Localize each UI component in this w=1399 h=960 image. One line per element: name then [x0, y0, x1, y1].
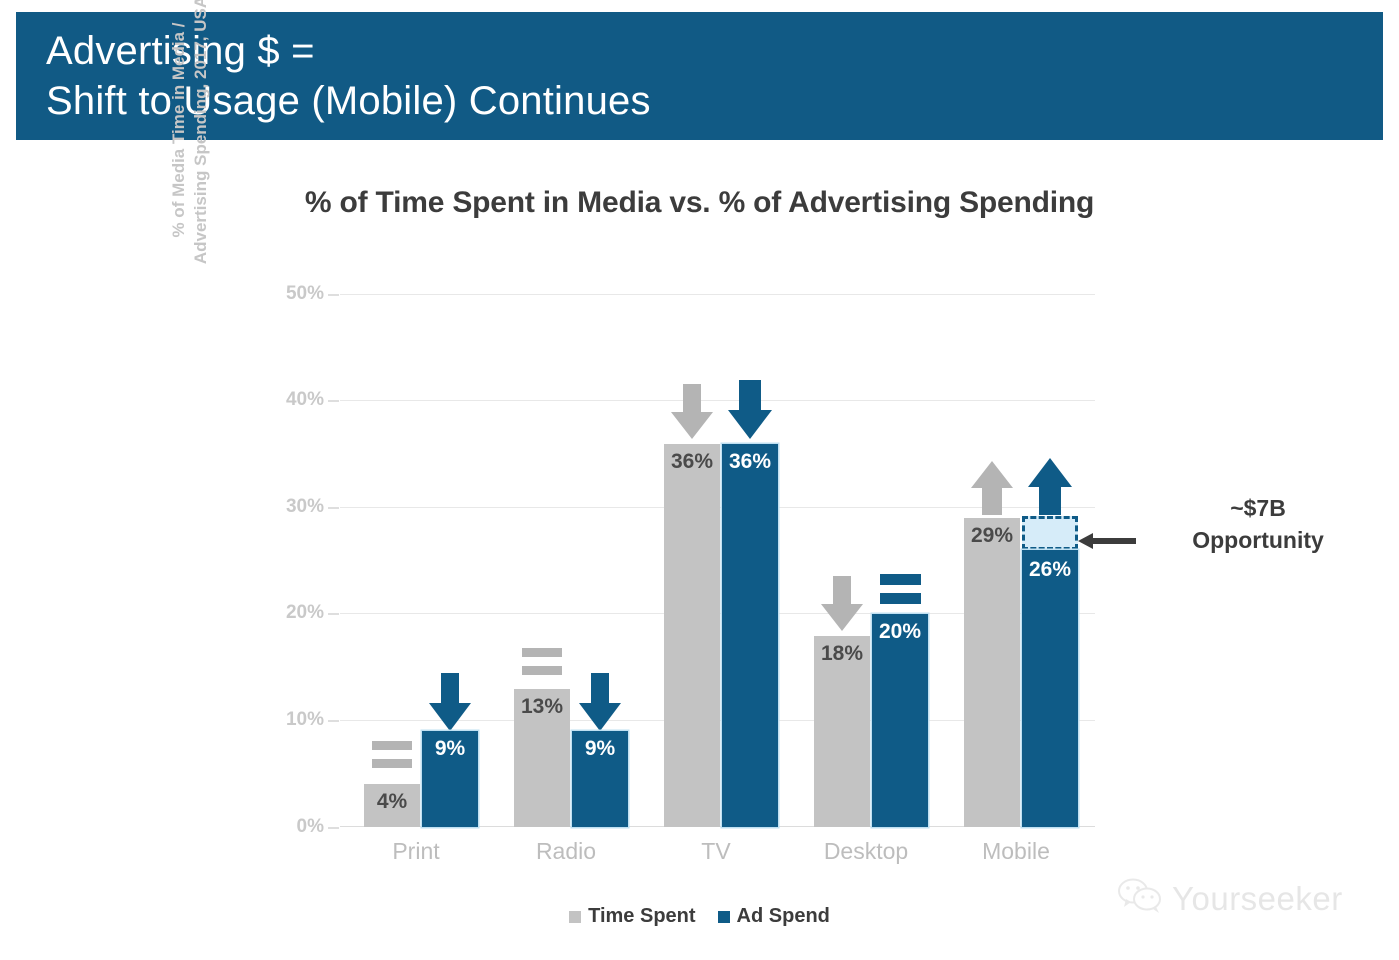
- opportunity-annotation: ~$7B Opportunity: [1138, 492, 1378, 556]
- bar-value-ad-spend-radio: 9%: [572, 737, 628, 761]
- bar-time-spent-print[interactable]: 4%: [364, 784, 420, 827]
- bar-group-desktop: 18% 20%: [796, 294, 946, 827]
- marker-arrow-down-icon: [726, 380, 774, 442]
- y-axis-title: % of Media Time in Media / Advertising S…: [168, 0, 212, 340]
- marker-arrow-up-icon: [1026, 458, 1074, 516]
- legend-label-ad-spend: Ad Spend: [737, 905, 830, 928]
- bar-ad-spend-radio[interactable]: 9%: [572, 731, 628, 827]
- y-tick-label-20: 20%: [224, 602, 324, 624]
- bar-group-tv: 36% 36%: [646, 294, 796, 827]
- bar-value-ad-spend-desktop: 20%: [872, 620, 928, 644]
- marker-arrow-down-icon: [576, 673, 624, 735]
- bar-value-time-spent-desktop: 18%: [814, 642, 870, 666]
- y-tick-dash-0: [328, 827, 339, 829]
- bar-ad-spend-print[interactable]: 9%: [422, 731, 478, 827]
- x-axis-label-mobile: Mobile: [936, 838, 1096, 865]
- bar-group-mobile: 29% 26%: [946, 294, 1096, 827]
- marker-equals-icon: [876, 572, 924, 612]
- bar-time-spent-mobile[interactable]: 29%: [964, 518, 1020, 827]
- bar-group-print: 4% 9%: [346, 294, 496, 827]
- bar-ad-spend-desktop[interactable]: 20%: [872, 614, 928, 827]
- marker-equals-icon: [368, 737, 416, 777]
- opportunity-label: Opportunity: [1138, 524, 1378, 556]
- y-tick-label-30: 30%: [224, 496, 324, 518]
- plot-area: 4% 9% 13% 9%: [340, 294, 1095, 827]
- legend-swatch-icon: [569, 911, 581, 923]
- bar-value-ad-spend-mobile: 26%: [1022, 558, 1078, 582]
- opportunity-amount: ~$7B: [1138, 492, 1378, 524]
- y-tick-label-10: 10%: [224, 709, 324, 731]
- bar-ad-spend-mobile[interactable]: 26%: [1022, 550, 1078, 827]
- y-tick-label-0: 0%: [224, 816, 324, 838]
- bar-value-ad-spend-tv: 36%: [722, 450, 778, 474]
- y-axis-title-line1: % of Media Time in Media /: [168, 0, 190, 340]
- y-tick-label-40: 40%: [224, 389, 324, 411]
- y-axis-title-line2: Advertising Spending, 2017, USA: [190, 0, 212, 340]
- legend-item-ad-spend[interactable]: Ad Spend: [718, 905, 830, 928]
- legend-item-time-spent[interactable]: Time Spent: [569, 905, 695, 928]
- legend-swatch-icon: [718, 911, 730, 923]
- y-tick-dash-30: [328, 507, 339, 509]
- bar-time-spent-tv[interactable]: 36%: [664, 444, 720, 827]
- bar-time-spent-radio[interactable]: 13%: [514, 689, 570, 827]
- x-axis-label-radio: Radio: [486, 838, 646, 865]
- bar-value-time-spent-print: 4%: [364, 790, 420, 814]
- x-axis-label-tv: TV: [636, 838, 796, 865]
- y-tick-dash-20: [328, 613, 339, 615]
- opportunity-arrow-icon: [1078, 532, 1136, 550]
- marker-arrow-up-icon: [968, 461, 1016, 516]
- y-tick-label-50: 50%: [224, 283, 324, 305]
- y-tick-dash-10: [328, 720, 339, 722]
- bar-ad-spend-tv[interactable]: 36%: [722, 444, 778, 827]
- marker-equals-icon: [518, 644, 566, 684]
- marker-arrow-down-icon: [668, 384, 716, 442]
- watermark: Yourseeker: [1118, 878, 1343, 919]
- x-axis-label-desktop: Desktop: [786, 838, 946, 865]
- bar-group-radio: 13% 9%: [496, 294, 646, 827]
- opportunity-box[interactable]: [1022, 516, 1078, 550]
- bar-value-time-spent-radio: 13%: [514, 695, 570, 719]
- legend-label-time-spent: Time Spent: [588, 905, 695, 928]
- marker-arrow-down-icon: [426, 673, 474, 735]
- bar-value-time-spent-tv: 36%: [664, 450, 720, 474]
- watermark-text: Yourseeker: [1172, 880, 1343, 918]
- x-axis-label-print: Print: [336, 838, 496, 865]
- bar-chart: % of Media Time in Media / Advertising S…: [0, 0, 1399, 960]
- y-tick-dash-50: [328, 294, 339, 296]
- y-tick-dash-40: [328, 400, 339, 402]
- wechat-icon: [1118, 878, 1162, 919]
- bar-time-spent-desktop[interactable]: 18%: [814, 636, 870, 827]
- bar-value-time-spent-mobile: 29%: [964, 524, 1020, 548]
- marker-arrow-down-icon: [818, 576, 866, 634]
- bar-value-ad-spend-print: 9%: [422, 737, 478, 761]
